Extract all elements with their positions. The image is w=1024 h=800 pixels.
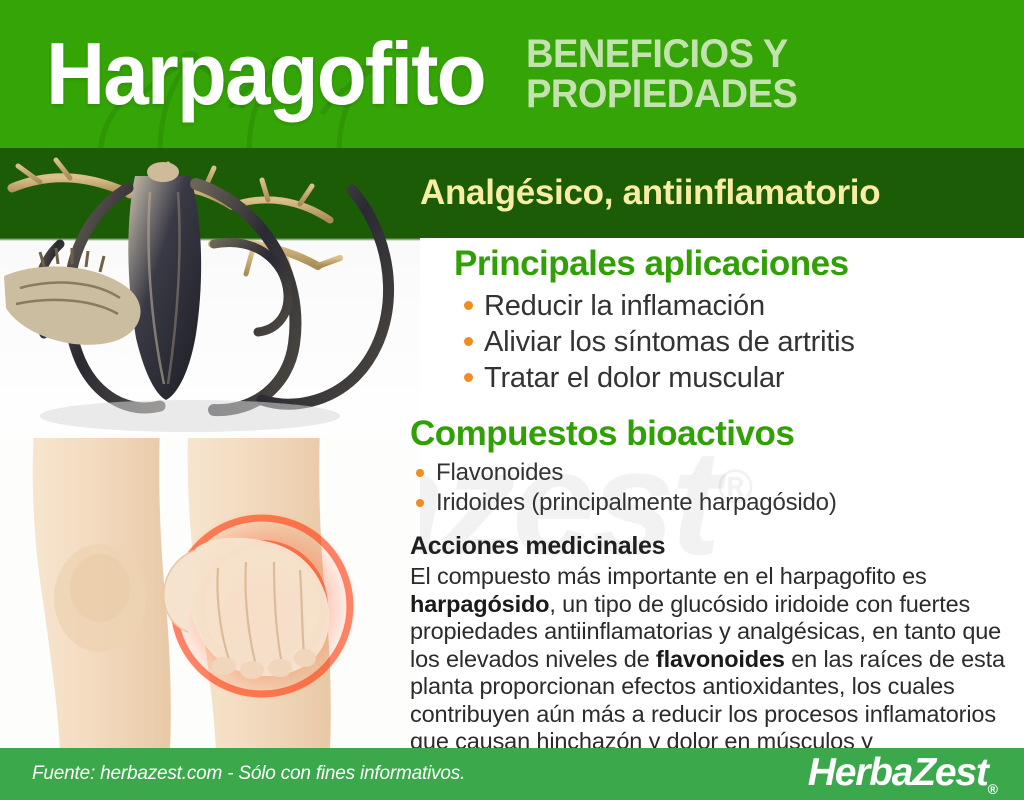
devils-claw-illustration (0, 148, 420, 458)
list-item-label: Reducir la inflamación (484, 290, 765, 322)
content-column: Principales aplicaciones Reducir la infl… (410, 240, 1024, 748)
knee-pain-illustration (0, 438, 420, 748)
list-item: Reducir la inflamación (458, 288, 1024, 324)
header-banner: Harpagofito BENEFICIOS Y PROPIEDADES (0, 0, 1024, 148)
applications-block: Principales aplicaciones Reducir la infl… (410, 242, 1024, 396)
fruit-pod (128, 176, 201, 400)
logo-text: HerbaZest (808, 751, 988, 794)
left-image-column (0, 148, 420, 748)
list-item: Iridoides (principalmente harpagósido) (410, 488, 1024, 518)
list-item-label: Flavonoides (436, 459, 563, 486)
list-item-label: Aliviar los síntomas de artritis (484, 326, 855, 358)
devils-claw-photo (0, 148, 420, 458)
actions-title: Acciones medicinales (410, 530, 1024, 562)
applications-list: Reducir la inflamación Aliviar los sínto… (458, 288, 1024, 396)
compounds-title: Compuestos bioactivos (410, 412, 1024, 456)
herbazest-logo[interactable]: HerbaZest® (808, 751, 998, 797)
list-item-label: Tratar el dolor muscular (484, 362, 784, 394)
compounds-list: Flavonoides Iridoides (principalmente ha… (410, 458, 1024, 518)
header-kicker: BENEFICIOS Y PROPIEDADES (526, 34, 797, 114)
bullet-dot-icon (464, 301, 473, 310)
list-item: Flavonoides (410, 458, 1024, 488)
footer-source: Fuente: herbazest.com - Sólo con fines i… (32, 763, 465, 785)
actions-bold-flavonoides: flavonoides (656, 646, 785, 672)
bullet-dot-icon (464, 373, 473, 382)
registered-trademark-icon: ® (988, 781, 998, 797)
bullet-dot-icon (416, 499, 424, 507)
compounds-block: Compuestos bioactivos Flavonoides Iridoi… (410, 412, 1024, 518)
page-title: Harpagofito (46, 30, 485, 118)
list-item-label: Iridoides (principalmente harpagósido) (436, 489, 837, 516)
subtitle-text: Analgésico, antiinflamatorio (420, 148, 1024, 238)
header-title-row: Harpagofito BENEFICIOS Y PROPIEDADES (0, 0, 1024, 148)
actions-bold-harpagosido: harpagósido (410, 591, 549, 617)
header-kicker-line1: BENEFICIOS Y (526, 34, 797, 74)
actions-block: Acciones medicinales El compuesto más im… (410, 530, 1024, 783)
applications-title: Principales aplicaciones (454, 242, 1024, 286)
infographic-page: Harpagofito BENEFICIOS Y PROPIEDADES Ana… (0, 0, 1024, 800)
bullet-dot-icon (464, 337, 473, 346)
actions-text-1: El compuesto más importante en el harpag… (410, 563, 927, 589)
list-item: Aliviar los síntomas de artritis (458, 324, 1024, 360)
header-kicker-line2: PROPIEDADES (526, 74, 797, 114)
footer-bar: Fuente: herbazest.com - Sólo con fines i… (0, 748, 1024, 800)
bullet-dot-icon (416, 469, 424, 477)
list-item: Tratar el dolor muscular (458, 360, 1024, 396)
knee-pain-photo (0, 438, 420, 748)
